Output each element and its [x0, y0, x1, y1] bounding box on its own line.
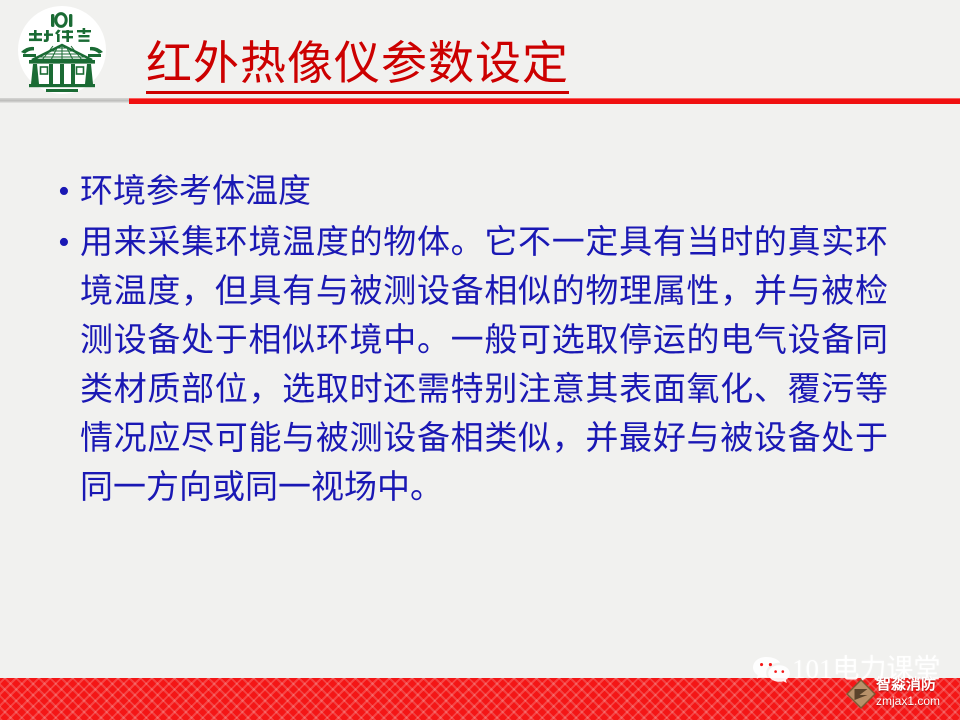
bullet-text: 环境参考体温度: [80, 168, 888, 217]
slide-body: • 环境参考体温度 • 用来采集环境温度的物体。它不一定具有当时的真实环境温度，…: [52, 168, 888, 513]
secondary-watermark-url: zmjax1.com: [876, 694, 940, 708]
header-divider-grey: [0, 98, 129, 103]
slide-header: 红外热像仪参数设定: [0, 0, 960, 104]
diamond-logo-icon: [846, 679, 876, 709]
wechat-icon: [752, 655, 790, 687]
bullet-marker-icon: •: [52, 168, 80, 216]
bullet-item: • 用来采集环境温度的物体。它不一定具有当时的真实环境温度，但具有与被测设备相似…: [52, 219, 888, 513]
header-divider-red: [129, 98, 960, 104]
bullet-text: 用来采集环境温度的物体。它不一定具有当时的真实环境温度，但具有与被测设备相似的物…: [80, 219, 888, 513]
bullet-item: • 环境参考体温度: [52, 168, 888, 217]
slide-canvas: 红外热像仪参数设定 • 环境参考体温度 • 用来采集环境温度的物体。它不一定具有…: [0, 0, 960, 720]
secondary-watermark: 智淼消防 zmjax1.com: [846, 675, 958, 715]
course-logo: [13, 4, 111, 96]
bullet-marker-icon: •: [52, 219, 80, 267]
page-title: 红外热像仪参数设定: [146, 38, 569, 94]
secondary-watermark-name: 智淼消防: [876, 676, 936, 694]
